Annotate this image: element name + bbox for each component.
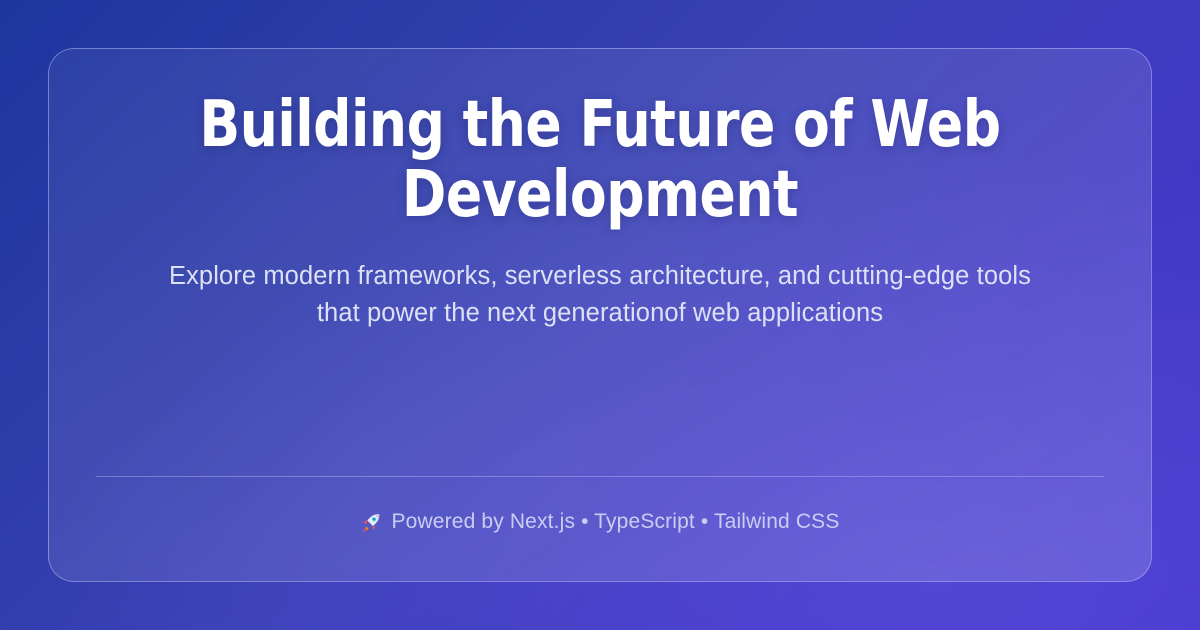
footer-credits: Powered by Next.js • TypeScript • Tailwi… — [360, 477, 839, 545]
content-card: Building the Future of Web Development E… — [48, 48, 1152, 582]
page-title: Building the Future of Web Development — [88, 90, 1113, 230]
rocket-icon — [360, 512, 382, 534]
footer-text: Powered by Next.js • TypeScript • Tailwi… — [391, 510, 839, 534]
subtitle-text: Explore modern frameworks, serverless ar… — [160, 258, 1040, 332]
og-image-canvas: Building the Future of Web Development E… — [0, 0, 1200, 630]
